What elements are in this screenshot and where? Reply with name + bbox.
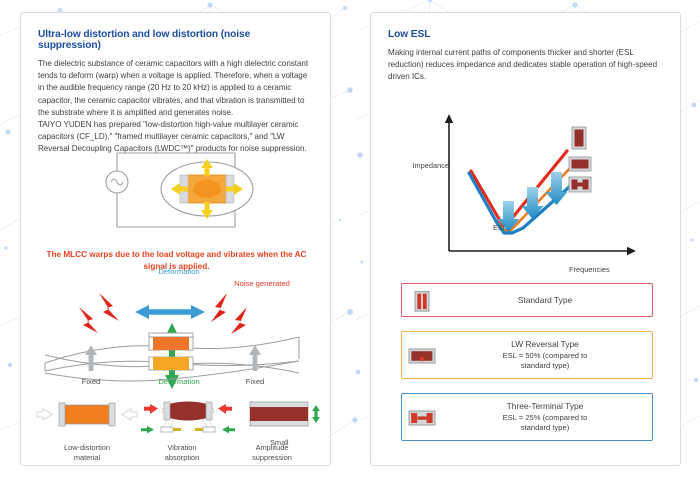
impedance-vs-frequency-chart	[371, 109, 681, 279]
label-fixed-left: Fixed	[66, 377, 116, 386]
capacitor-lower-icon	[149, 357, 193, 370]
fixed-arrow-left-icon	[85, 345, 97, 371]
fixed-arrow-right-icon	[249, 345, 261, 371]
noise-bolts-right-icon	[211, 293, 247, 334]
small-amplitude-arrow-icon	[312, 405, 320, 423]
right-card-title: Low ESL	[388, 29, 663, 40]
standard-type-chip-icon	[411, 291, 433, 312]
legend-box-standard-type[interactable]: Standard Type	[401, 283, 653, 317]
deformation-horizontal-arrow-icon	[135, 305, 205, 319]
vibration-absorption-icon	[141, 402, 235, 434]
legend-box-lw-reversal-type[interactable]: LW Reversal Type ESL = 50% (compared to …	[401, 331, 653, 379]
right-card-text-block: Low ESL Making internal current paths of…	[371, 13, 680, 84]
label-noise-generated: Noise generated	[217, 279, 307, 288]
card-low-esl: Low ESL Making internal current paths of…	[370, 12, 681, 466]
legend-title-0: Standard Type	[442, 295, 648, 306]
solution-label-0: Low-distortion material	[41, 443, 133, 463]
right-card-body: Making internal current paths of compone…	[388, 47, 663, 84]
x-axis-arrowhead	[627, 247, 636, 255]
solution-label-2: Amplitude suppression	[226, 443, 318, 463]
chart-esl-annotation: ESL	[480, 223, 520, 232]
three-terminal-chip-icon	[408, 409, 436, 427]
capacitor-upper-icon	[149, 333, 193, 350]
chart-y-axis-label: Impedance	[393, 161, 449, 170]
legend-box-three-terminal-type[interactable]: Three-Terminal Type ESL = 25% (compared …	[401, 393, 653, 441]
ac-circuit-figure	[21, 131, 331, 243]
lw-reversal-chip-icon	[569, 157, 591, 171]
noise-bolts-left-icon	[79, 293, 119, 333]
legend-title-2: Three-Terminal Type	[442, 401, 648, 412]
chart-x-axis-label: Frequencies	[569, 265, 649, 274]
card-noise-suppression: Ultra-low distortion and low distortion …	[20, 12, 331, 466]
y-axis-arrowhead	[445, 114, 453, 123]
legend-sub-2: ESL = 25% (compared to standard type)	[442, 413, 648, 432]
label-fixed-right: Fixed	[230, 377, 280, 386]
label-deformation-bottom: Deformation	[134, 377, 224, 386]
label-deformation-top: Deformation	[134, 267, 224, 276]
low-distortion-material-icon	[37, 403, 137, 426]
three-terminal-chip-icon	[569, 177, 591, 192]
lw-reversal-chip-icon	[408, 347, 436, 365]
solution-label-1: Vibration absorption	[136, 443, 228, 463]
amplitude-suppression-icon	[250, 402, 320, 426]
solution-icons-row	[21, 397, 331, 437]
standard-type-chip-icon	[572, 127, 586, 149]
legend-sub-1: ESL = 50% (compared to standard type)	[442, 351, 648, 370]
legend-title-1: LW Reversal Type	[442, 339, 648, 350]
left-card-title: Ultra-low distortion and low distortion …	[38, 29, 313, 51]
